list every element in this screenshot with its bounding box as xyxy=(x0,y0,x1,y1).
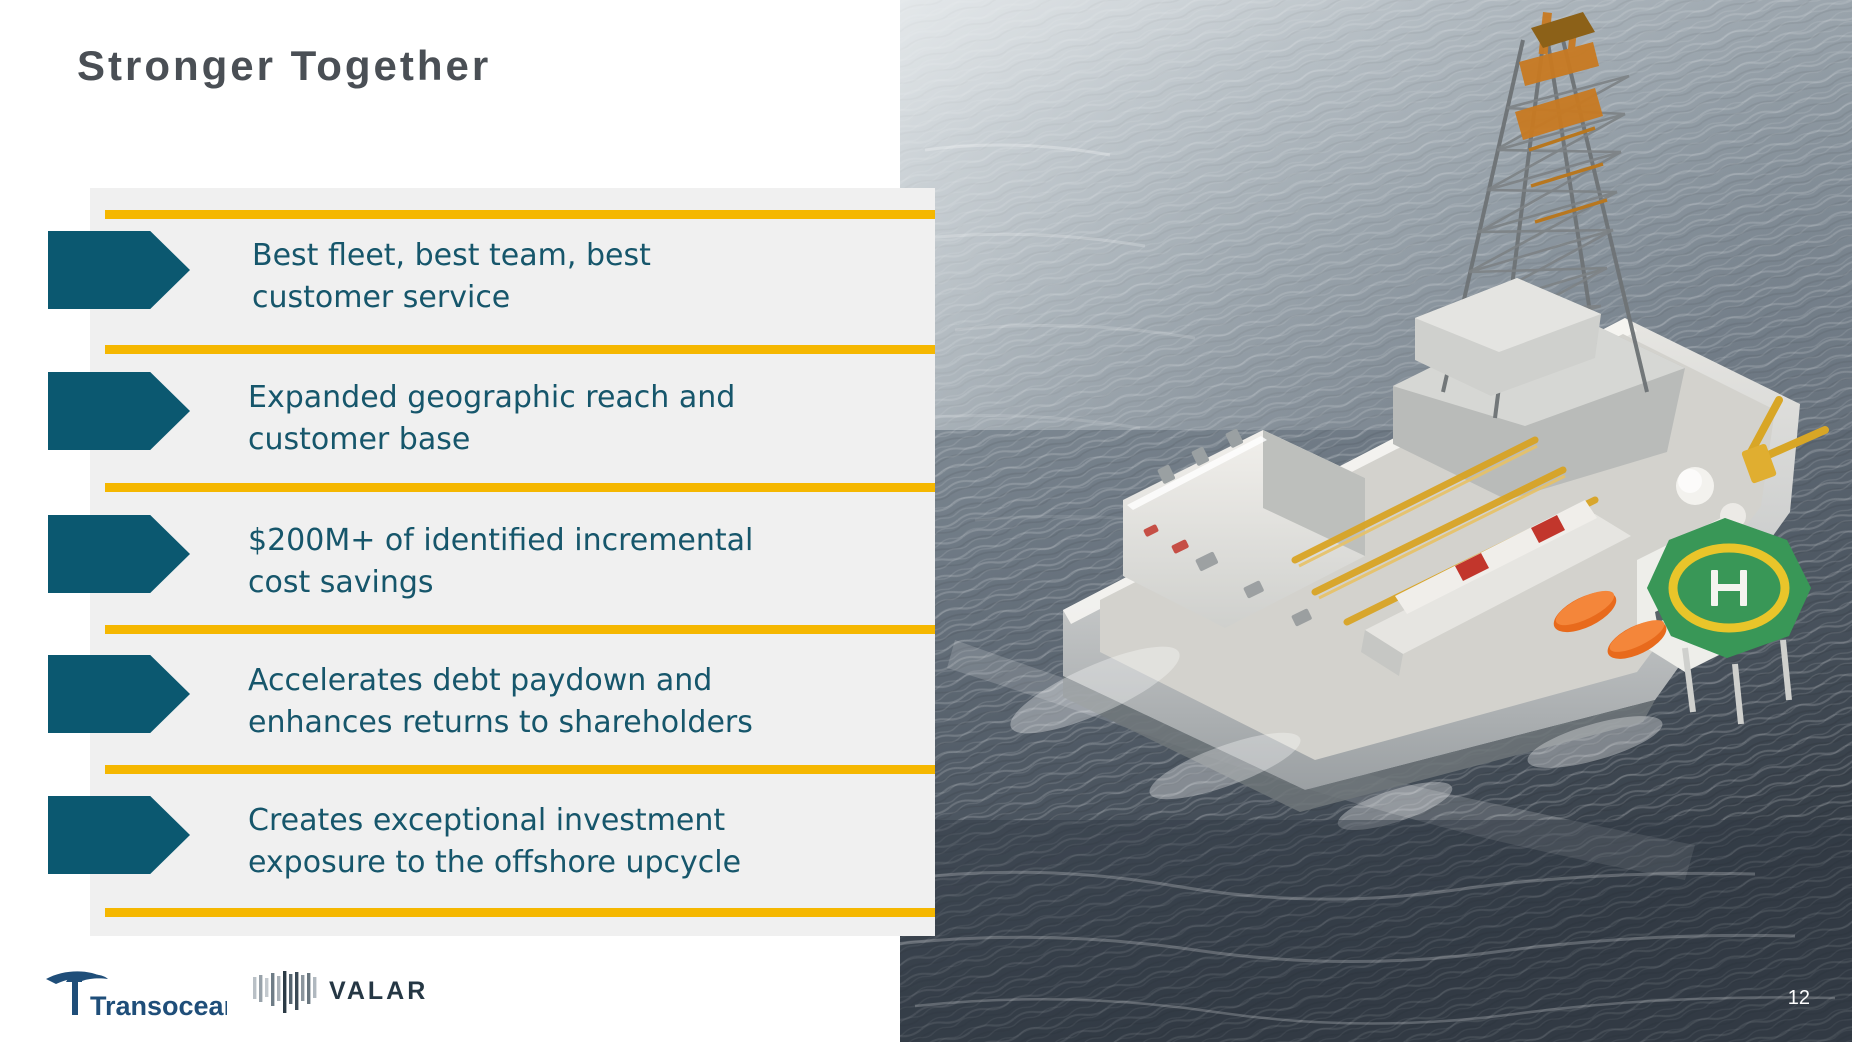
page-number: 12 xyxy=(1788,987,1810,1010)
benefit-item-4: Accelerates debt paydown and enhances re… xyxy=(248,660,868,744)
page-title: Stronger Together xyxy=(77,42,491,90)
drillship-photo xyxy=(895,0,1852,1042)
benefit-item-4-line2: enhances returns to shareholders xyxy=(248,702,868,744)
benefit-item-1: Best fleet, best team, best customer ser… xyxy=(252,235,872,319)
benefit-item-2: Expanded geographic reach and customer b… xyxy=(248,377,868,461)
benefit-item-5-line1: Creates exceptional investment xyxy=(248,800,868,842)
benefit-item-4-line1: Accelerates debt paydown and xyxy=(248,660,868,702)
valaris-wordmark: VALARIS xyxy=(329,977,426,1005)
benefit-item-5: Creates exceptional investment exposure … xyxy=(248,800,868,884)
slide-content-area: Stronger Together Best fleet, best team,… xyxy=(0,0,900,1042)
divider-rule-6 xyxy=(105,908,935,917)
divider-rule-4 xyxy=(105,625,935,634)
valaris-bars-icon xyxy=(253,971,316,1013)
divider-rule-3 xyxy=(105,483,935,492)
benefit-item-3: $200M+ of identified incremental cost sa… xyxy=(248,520,868,604)
benefit-item-2-line2: customer base xyxy=(248,419,868,461)
transocean-logo: Transocean xyxy=(42,965,227,1023)
drillship-photo-svg xyxy=(895,0,1852,1042)
footer-logos: Transocean VALARIS xyxy=(42,965,426,1023)
divider-rule-1 xyxy=(105,210,935,219)
transocean-wordmark: Transocean xyxy=(90,991,227,1021)
benefit-item-3-line1: $200M+ of identified incremental xyxy=(248,520,868,562)
benefit-item-5-line2: exposure to the offshore upcycle xyxy=(248,842,868,884)
benefit-item-2-line1: Expanded geographic reach and xyxy=(248,377,868,419)
valaris-logo: VALARIS xyxy=(251,969,426,1019)
divider-rule-5 xyxy=(105,765,935,774)
benefit-item-1-line2: customer service xyxy=(252,277,872,319)
divider-rule-2 xyxy=(105,345,935,354)
benefit-item-1-line1: Best fleet, best team, best xyxy=(252,235,872,277)
benefit-item-3-line2: cost savings xyxy=(248,562,868,604)
